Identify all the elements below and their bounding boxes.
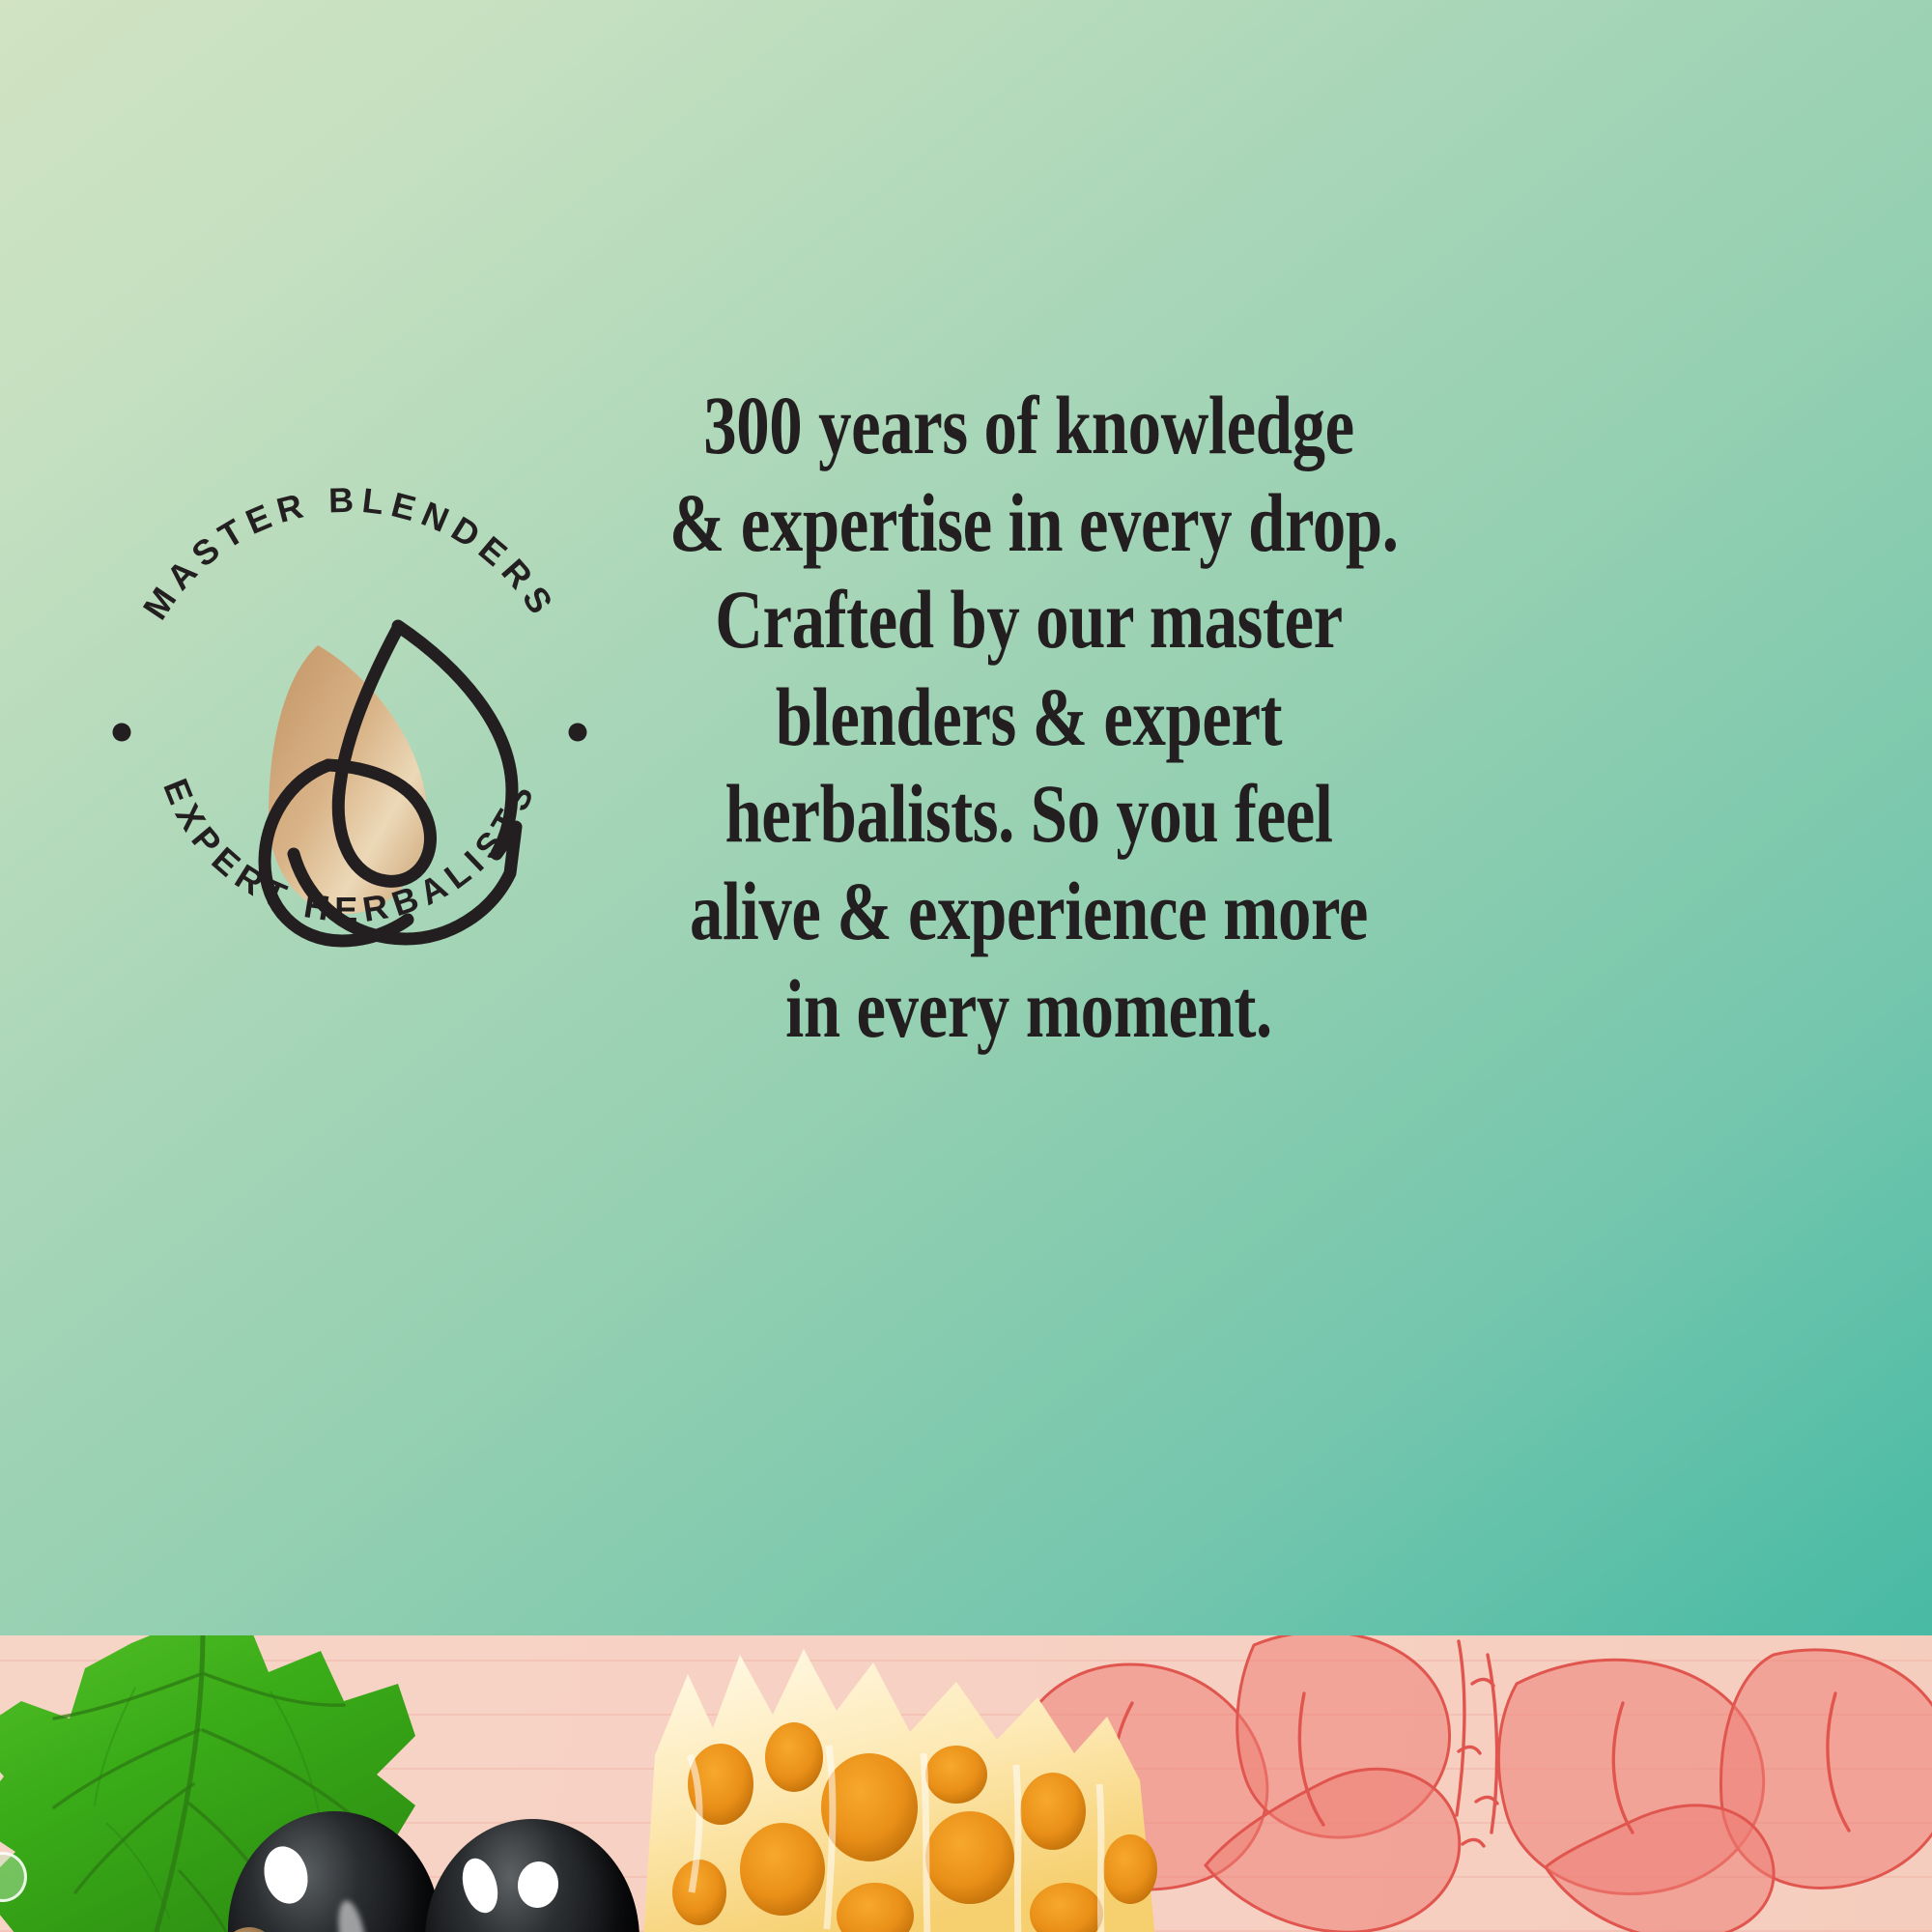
headline-copy-block: 300 years of knowledge & expertise in ev… [669,377,1388,1057]
copy-line: herbalists. So you feel [669,765,1388,863]
poster-canvas: MASTER BLENDERS EXPERT HERBALISTS 300 ye… [0,0,1932,1932]
berry-highlight [515,1859,561,1910]
berry-highlight [333,1898,371,1932]
berry-highlight [457,1854,504,1917]
copy-line: Crafted by our master [669,571,1388,668]
honeycomb-photo [638,1639,1179,1932]
berry-calyx [222,1927,276,1932]
seal-separator-dot-left [113,724,131,742]
seal-separator-dot-right [569,724,587,742]
berry-highlight [258,1842,313,1909]
master-blenders-seal: MASTER BLENDERS EXPERT HERBALISTS [79,437,620,978]
seal-top-arc-label: MASTER BLENDERS [135,480,565,627]
copy-line: & expertise in every drop. [669,474,1388,572]
copy-line: in every moment. [669,960,1388,1058]
copy-line: blenders & expert [669,668,1388,766]
copy-line: alive & experience more [669,863,1388,960]
ingredient-photo-strip [0,1635,1932,1932]
copy-line: 300 years of knowledge [669,377,1388,474]
